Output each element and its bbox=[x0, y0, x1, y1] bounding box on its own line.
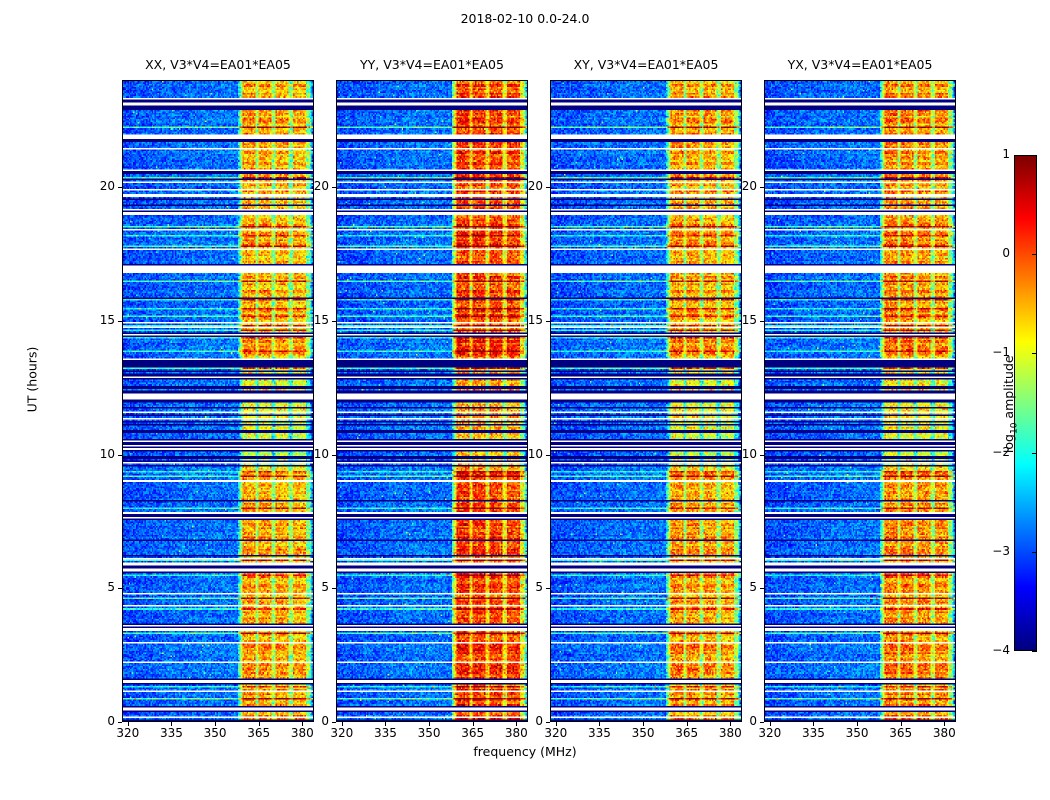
x-tick-mark bbox=[556, 722, 557, 726]
figure-suptitle: 2018-02-10 0.0-24.0 bbox=[0, 11, 1050, 26]
y-tick-mark bbox=[332, 588, 336, 589]
colorbar-tick-label: −4 bbox=[966, 643, 1010, 657]
x-tick-label: 350 bbox=[409, 726, 449, 740]
heatmap-image-yy bbox=[337, 81, 527, 721]
x-tick-label: 380 bbox=[496, 726, 536, 740]
colorbar-label-base: log bbox=[1001, 434, 1016, 453]
heatmap-panel-xx bbox=[122, 80, 314, 722]
figure-canvas: 2018-02-10 0.0-24.0 XX, V3*V4=EA01*EA05 … bbox=[0, 0, 1050, 800]
y-tick-mark bbox=[760, 722, 764, 723]
x-tick-mark bbox=[599, 722, 600, 726]
x-tick-label: 365 bbox=[239, 726, 279, 740]
y-tick-mark bbox=[760, 588, 764, 589]
y-tick-label: 5 bbox=[717, 580, 757, 594]
x-tick-label: 380 bbox=[710, 726, 750, 740]
y-tick-mark bbox=[546, 187, 550, 188]
x-tick-label: 365 bbox=[881, 726, 921, 740]
colorbar-tick-label: −3 bbox=[966, 544, 1010, 558]
x-tick-label: 365 bbox=[667, 726, 707, 740]
y-tick-label: 5 bbox=[289, 580, 329, 594]
y-tick-label: 20 bbox=[75, 179, 115, 193]
y-tick-label: 20 bbox=[717, 179, 757, 193]
y-tick-mark bbox=[332, 187, 336, 188]
y-tick-mark bbox=[118, 588, 122, 589]
x-tick-mark bbox=[473, 722, 474, 726]
x-tick-label: 320 bbox=[108, 726, 148, 740]
heatmap-panel-yx bbox=[764, 80, 956, 722]
x-tick-label: 380 bbox=[924, 726, 964, 740]
x-tick-mark bbox=[429, 722, 430, 726]
x-tick-mark bbox=[302, 722, 303, 726]
x-tick-label: 320 bbox=[322, 726, 362, 740]
x-tick-label: 320 bbox=[536, 726, 576, 740]
y-tick-mark bbox=[760, 187, 764, 188]
x-tick-mark bbox=[128, 722, 129, 726]
y-tick-mark bbox=[760, 321, 764, 322]
y-tick-label: 15 bbox=[75, 313, 115, 327]
y-tick-mark bbox=[546, 321, 550, 322]
y-tick-label: 15 bbox=[717, 313, 757, 327]
x-tick-mark bbox=[643, 722, 644, 726]
colorbar-tick-mark bbox=[1032, 155, 1037, 156]
x-tick-label: 350 bbox=[837, 726, 877, 740]
x-tick-label: 350 bbox=[623, 726, 663, 740]
y-axis-label: UT (hours) bbox=[25, 310, 40, 450]
panel-title-xx: XX, V3*V4=EA01*EA05 bbox=[122, 57, 314, 72]
x-tick-label: 380 bbox=[282, 726, 322, 740]
colorbar-tick-mark bbox=[1032, 651, 1037, 652]
y-tick-mark bbox=[760, 455, 764, 456]
y-tick-label: 15 bbox=[289, 313, 329, 327]
y-tick-label: 10 bbox=[75, 447, 115, 461]
y-tick-label: 20 bbox=[289, 179, 329, 193]
y-tick-mark bbox=[118, 321, 122, 322]
y-tick-mark bbox=[546, 588, 550, 589]
y-tick-mark bbox=[118, 722, 122, 723]
x-tick-label: 335 bbox=[793, 726, 833, 740]
x-tick-mark bbox=[342, 722, 343, 726]
colorbar-tick-mark bbox=[1032, 353, 1037, 354]
colorbar-tick-label: 0 bbox=[966, 246, 1010, 260]
colorbar-tick-mark bbox=[1032, 254, 1037, 255]
panel-title-xy: XY, V3*V4=EA01*EA05 bbox=[550, 57, 742, 72]
x-tick-mark bbox=[259, 722, 260, 726]
x-tick-label: 350 bbox=[195, 726, 235, 740]
y-tick-label: 10 bbox=[289, 447, 329, 461]
y-tick-mark bbox=[332, 321, 336, 322]
heatmap-image-yx bbox=[765, 81, 955, 721]
y-tick-label: 20 bbox=[503, 179, 543, 193]
x-tick-label: 320 bbox=[750, 726, 790, 740]
heatmap-panel-xy bbox=[550, 80, 742, 722]
x-tick-mark bbox=[857, 722, 858, 726]
x-tick-mark bbox=[385, 722, 386, 726]
colorbar-label-sub: 10 bbox=[1009, 423, 1019, 434]
y-tick-mark bbox=[546, 455, 550, 456]
heatmap-image-xy bbox=[551, 81, 741, 721]
colorbar-tick-label: 1 bbox=[966, 147, 1010, 161]
x-tick-label: 365 bbox=[453, 726, 493, 740]
x-tick-mark bbox=[171, 722, 172, 726]
x-tick-label: 335 bbox=[151, 726, 191, 740]
colorbar-tick-mark bbox=[1032, 552, 1037, 553]
x-tick-mark bbox=[770, 722, 771, 726]
x-tick-mark bbox=[813, 722, 814, 726]
x-axis-label: frequency (MHz) bbox=[0, 744, 1050, 759]
colorbar-label-rest: amplitude bbox=[1001, 355, 1016, 422]
y-tick-mark bbox=[546, 722, 550, 723]
x-tick-mark bbox=[901, 722, 902, 726]
y-tick-label: 10 bbox=[717, 447, 757, 461]
x-tick-mark bbox=[730, 722, 731, 726]
y-tick-mark bbox=[118, 455, 122, 456]
y-tick-mark bbox=[332, 722, 336, 723]
x-tick-mark bbox=[215, 722, 216, 726]
x-tick-mark bbox=[944, 722, 945, 726]
colorbar-label: log10 amplitude bbox=[1001, 294, 1020, 514]
heatmap-image-xx bbox=[123, 81, 313, 721]
y-tick-label: 5 bbox=[503, 580, 543, 594]
y-tick-mark bbox=[332, 455, 336, 456]
heatmap-panel-yy bbox=[336, 80, 528, 722]
x-tick-label: 335 bbox=[579, 726, 619, 740]
y-tick-label: 5 bbox=[75, 580, 115, 594]
y-tick-mark bbox=[118, 187, 122, 188]
colorbar-tick-mark bbox=[1032, 453, 1037, 454]
y-tick-label: 10 bbox=[503, 447, 543, 461]
x-tick-mark bbox=[687, 722, 688, 726]
y-tick-label: 15 bbox=[503, 313, 543, 327]
panel-title-yy: YY, V3*V4=EA01*EA05 bbox=[336, 57, 528, 72]
x-tick-label: 335 bbox=[365, 726, 405, 740]
x-tick-mark bbox=[516, 722, 517, 726]
panel-title-yx: YX, V3*V4=EA01*EA05 bbox=[764, 57, 956, 72]
